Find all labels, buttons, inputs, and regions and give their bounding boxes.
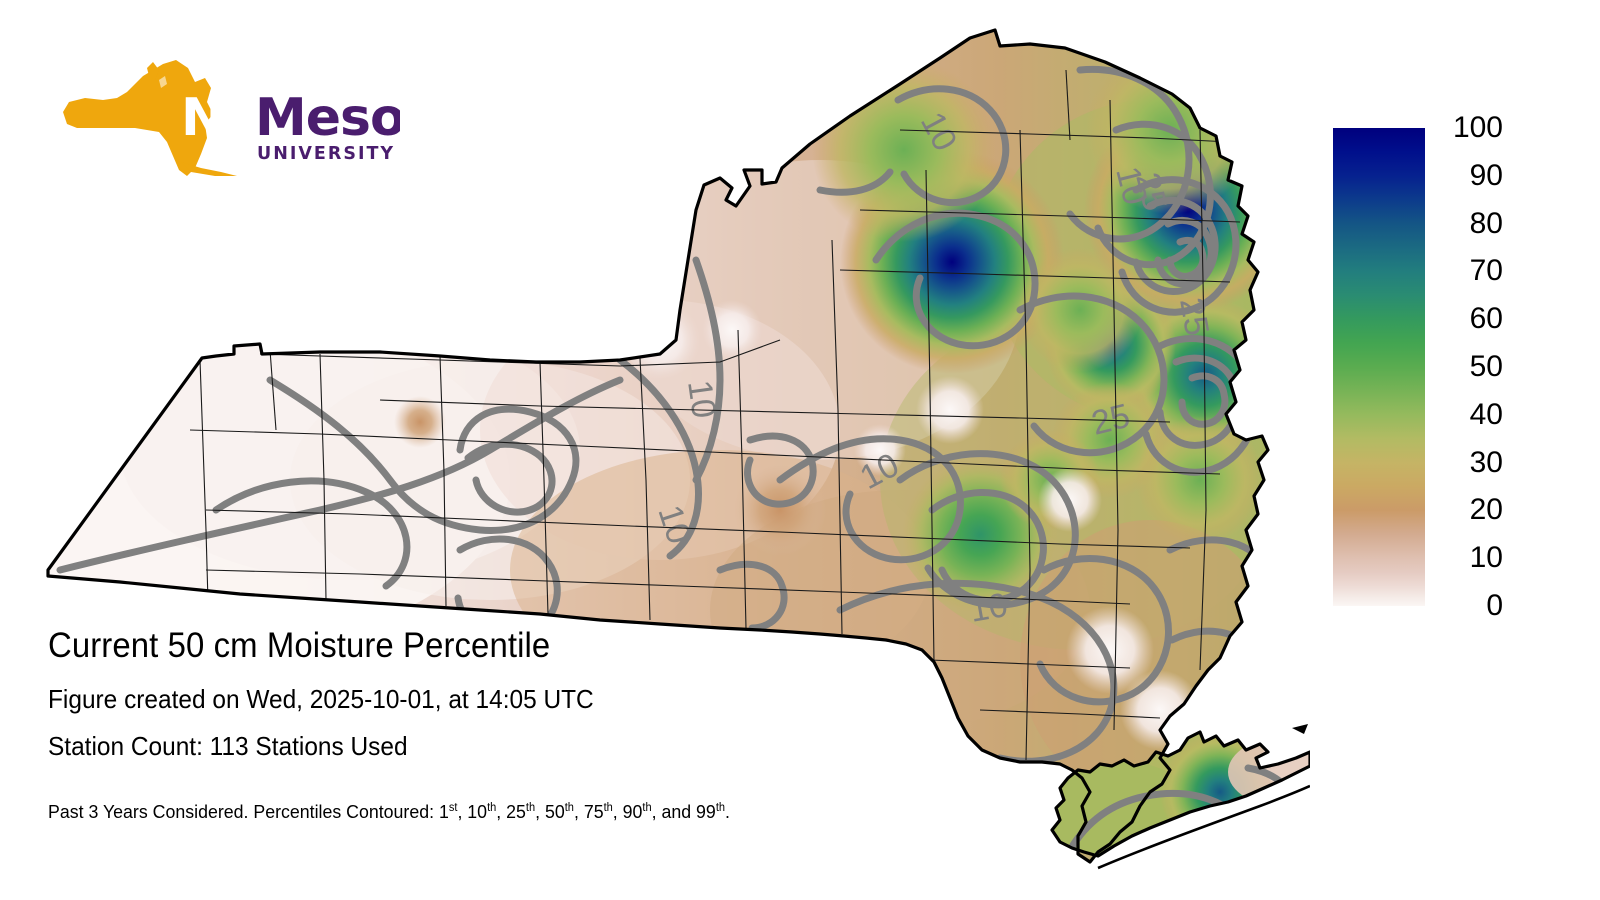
colorbar-tick-100: 100 <box>1441 113 1503 143</box>
colorbar-gradient <box>1333 128 1425 606</box>
contour-level-90: 90th <box>623 801 652 822</box>
colorbar-tick-30: 30 <box>1441 448 1503 478</box>
contour-level-25: 25th <box>506 801 535 822</box>
contour-level-1: 1st <box>439 801 457 822</box>
station-count-line: Station Count: 113 Stations Used <box>48 731 988 761</box>
colorbar-tick-60: 60 <box>1441 304 1503 334</box>
colorbar-tick-80: 80 <box>1441 209 1503 239</box>
colorbar-tick-labels: 1009080706050403020100 <box>1441 110 1571 620</box>
colorbar-tick-40: 40 <box>1441 400 1503 430</box>
colorbar-tick-20: 20 <box>1441 495 1503 525</box>
contour-level-99: 99th <box>696 801 725 822</box>
colorbar: 1009080706050403020100 <box>1333 128 1583 618</box>
colorbar-tick-70: 70 <box>1441 256 1503 286</box>
figure-caption-block: Current 50 cm Moisture Percentile Figure… <box>48 625 1048 823</box>
contour-level-75: 75th <box>584 801 613 822</box>
figure-created-timestamp: Figure created on Wed, 2025-10-01, at 14… <box>48 684 988 714</box>
contour-level-50: 50th <box>545 801 574 822</box>
svg-text:10: 10 <box>680 378 723 421</box>
svg-text:25: 25 <box>1172 295 1216 339</box>
contour-levels-footnote: Past 3 Years Considered. Percentiles Con… <box>48 801 1008 823</box>
block-island-shape <box>1292 724 1308 734</box>
svg-text:10: 10 <box>967 586 1011 630</box>
figure-canvas: NYS Mesonet UNIVERSITY AT ALBANY <box>0 0 1600 900</box>
colorbar-tick-10: 10 <box>1441 543 1503 573</box>
colorbar-tick-90: 90 <box>1441 161 1503 191</box>
colorbar-tick-50: 50 <box>1441 352 1503 382</box>
page-title: Current 50 cm Moisture Percentile <box>48 625 988 667</box>
contour-level-10: 10th <box>467 801 496 822</box>
colorbar-tick-0: 0 <box>1441 591 1503 621</box>
